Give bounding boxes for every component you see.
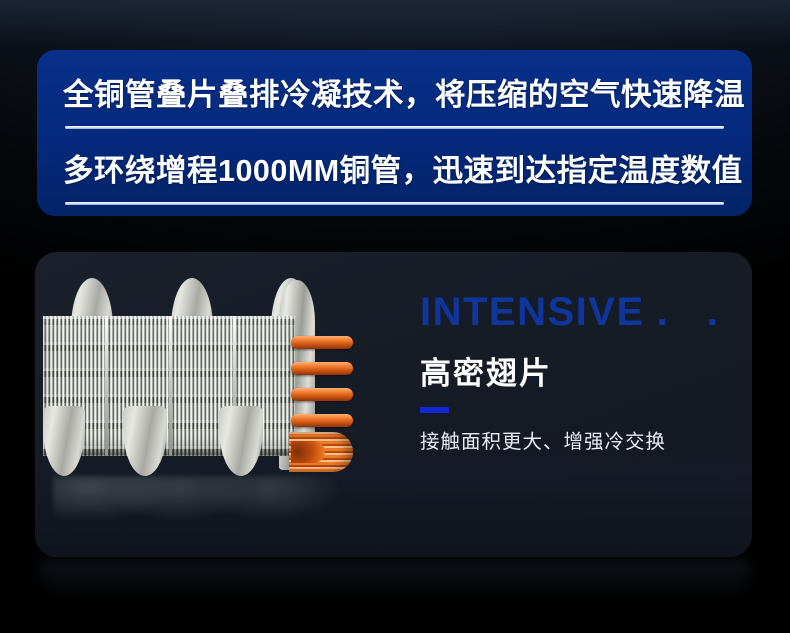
fin-seam-2 [169,316,172,456]
banner-line-2: 多环绕增程1000MM铜管，迅速到达指定温度数值 [63,156,743,187]
feature-headline: 高密翅片 [420,358,750,389]
banner-divider-2 [65,202,724,205]
feature-card: INTENSIVE. . . 高密翅片 接触面积更大、增强冷交换 [35,252,752,557]
feature-banner: 全铜管叠片叠排冷凝技术，将压缩的空气快速降温 多环绕增程1000MM铜管，迅速到… [37,50,752,216]
copper-tube-4 [291,414,353,427]
banner-row-1: 全铜管叠片叠排冷凝技术，将压缩的空气快速降温 [63,57,726,133]
fin-plate-bottom-3 [219,406,263,476]
banner-row-2: 多环绕增程1000MM铜管，迅速到达指定温度数值 [63,133,726,209]
feature-eyebrow-label: INTENSIVE [420,290,645,334]
copper-coil-bundle [289,432,353,472]
heat-exchanger-image [43,264,393,534]
page-background: 全铜管叠片叠排冷凝技术，将压缩的空气快速降温 多环绕增程1000MM铜管，迅速到… [0,0,790,633]
banner-divider-1 [65,126,724,129]
copper-tube-3 [291,388,353,401]
fin-seam-1 [105,316,108,456]
banner-line-1: 全铜管叠片叠排冷凝技术，将压缩的空气快速降温 [63,80,745,111]
feature-subline: 接触面积更大、增强冷交换 [420,433,750,453]
feature-eyebrow: INTENSIVE. . . [420,292,750,332]
fin-plate-bottom-1 [43,406,85,476]
card-outer-reflection [40,560,750,600]
feature-card-text: INTENSIVE. . . 高密翅片 接触面积更大、增强冷交换 [420,292,750,453]
feature-eyebrow-dots: . . . [645,290,752,334]
product-reflection [53,476,353,536]
copper-tube-1 [291,336,353,349]
accent-bar [420,407,449,413]
copper-tube-2 [291,362,353,375]
fin-plate-bottom-2 [123,406,167,476]
